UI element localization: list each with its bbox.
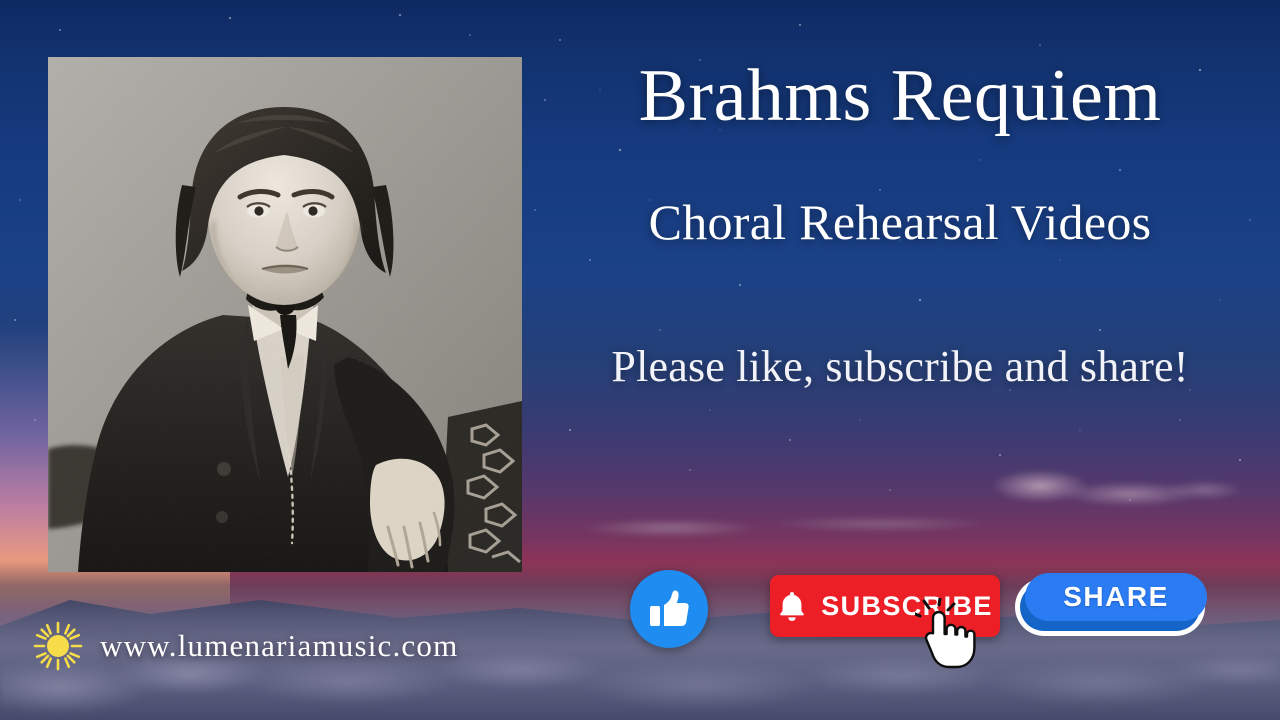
subscribe-label: SUBSCRIBE	[821, 593, 993, 620]
thumbs-up-icon	[646, 586, 692, 632]
brahms-portrait	[48, 57, 522, 572]
share-button[interactable]: SHARE	[1015, 570, 1220, 648]
share-button-face[interactable]: SHARE	[1025, 573, 1207, 621]
sun-icon	[32, 620, 84, 672]
like-button[interactable]	[630, 570, 708, 648]
page-title: Brahms Requiem	[560, 58, 1240, 136]
website-url: www.lumenariamusic.com	[100, 628, 458, 664]
subscribe-button[interactable]: SUBSCRIBE	[770, 575, 1000, 637]
social-button-row: SUBSCRIBE SHARE	[630, 570, 708, 648]
page-subtitle: Choral Rehearsal Videos	[560, 195, 1240, 250]
call-to-action-text: Please like, subscribe and share!	[540, 343, 1260, 391]
website-footer: www.lumenariamusic.com	[32, 620, 458, 672]
bell-icon	[777, 590, 807, 622]
thumbnail-canvas: Brahms Requiem Choral Rehearsal Videos P…	[0, 0, 1280, 720]
share-label: SHARE	[1063, 583, 1169, 611]
